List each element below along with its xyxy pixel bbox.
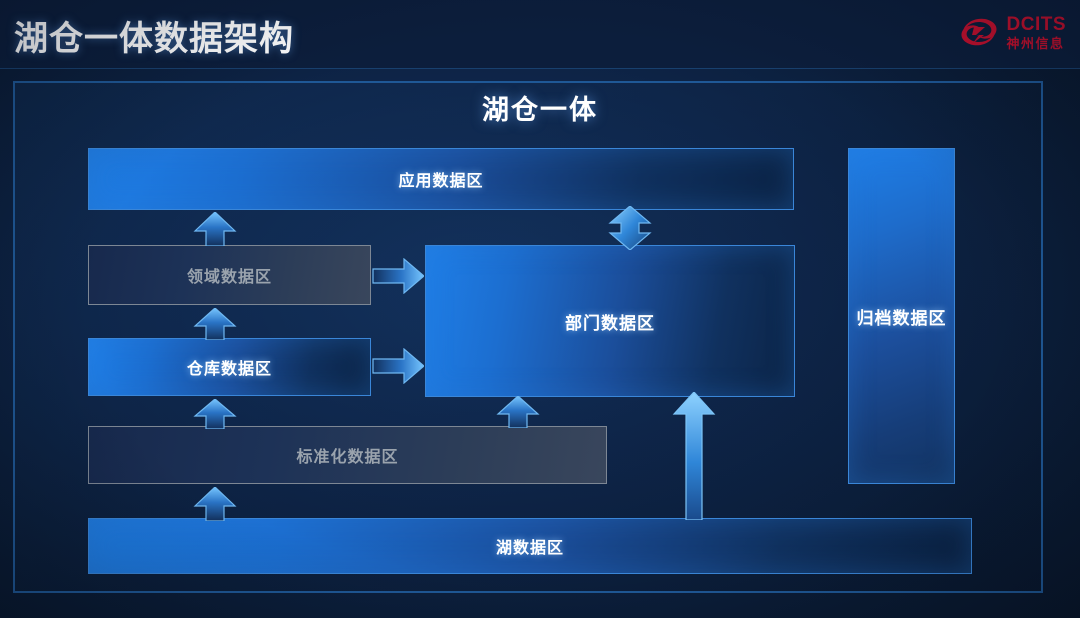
box-label: 归档数据区 bbox=[857, 304, 947, 329]
box-label: 湖数据区 bbox=[496, 534, 564, 558]
arrow-lake-to-standard-icon bbox=[193, 487, 237, 521]
dcits-swoosh-icon bbox=[957, 15, 1001, 49]
diagram-title: 湖仓一体 bbox=[0, 88, 1080, 127]
arrow-domain-to-department-icon bbox=[372, 258, 424, 294]
arrow-department-application-bidirectional-icon bbox=[606, 206, 654, 250]
box-archive-data-zone[interactable]: 归档数据区 bbox=[848, 148, 955, 484]
box-label: 应用数据区 bbox=[398, 167, 483, 191]
box-domain-data-zone[interactable]: 领域数据区 bbox=[88, 245, 371, 305]
page-title: 湖仓一体数据架构 bbox=[14, 11, 294, 60]
box-label: 标准化数据区 bbox=[296, 443, 398, 467]
arrow-warehouse-to-department-icon bbox=[372, 348, 424, 384]
box-label: 领域数据区 bbox=[187, 263, 272, 287]
slide-header: 湖仓一体数据架构 DCITS 神州信息 bbox=[0, 0, 1080, 69]
box-warehouse-data-zone[interactable]: 仓库数据区 bbox=[88, 338, 371, 396]
arrow-standard-to-warehouse-icon bbox=[193, 399, 237, 429]
logo-text-en: DCITS bbox=[1007, 15, 1067, 34]
logo-wordmark: DCITS 神州信息 bbox=[1007, 15, 1067, 50]
arrow-standard-to-department-icon bbox=[496, 396, 540, 428]
arrow-lake-to-department-icon bbox=[672, 392, 716, 520]
box-standardized-data-zone[interactable]: 标准化数据区 bbox=[88, 426, 607, 484]
box-department-data-zone[interactable]: 部门数据区 bbox=[425, 245, 795, 397]
box-label: 仓库数据区 bbox=[187, 355, 272, 379]
box-application-data-zone[interactable]: 应用数据区 bbox=[88, 148, 794, 210]
brand-logo: DCITS 神州信息 bbox=[957, 8, 1067, 56]
box-lake-data-zone[interactable]: 湖数据区 bbox=[88, 518, 972, 574]
slide-canvas: 湖仓一体数据架构 DCITS 神州信息 湖仓一体 应用数据区 领域数据区 仓库数… bbox=[0, 0, 1080, 618]
arrow-warehouse-to-domain-icon bbox=[193, 308, 237, 340]
logo-text-cn: 神州信息 bbox=[1007, 37, 1067, 50]
box-label: 部门数据区 bbox=[565, 309, 655, 334]
arrow-domain-to-application-icon bbox=[193, 212, 237, 246]
